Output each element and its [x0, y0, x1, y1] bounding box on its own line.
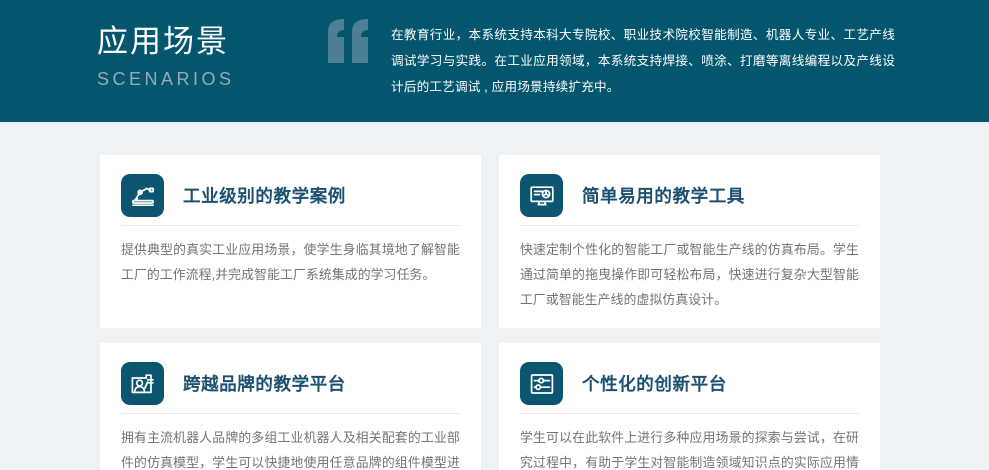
- card-title: 跨越品牌的教学平台: [183, 372, 346, 396]
- card-divider: [520, 413, 859, 414]
- banner-description: 在教育行业，本系统支持本科大专院校、职业技术院校智能制造、机器人专业、工艺产线调…: [391, 22, 895, 100]
- scenario-card[interactable]: 跨越品牌的教学平台 拥有主流机器人品牌的多组工业机器人及相关配套的工业部件的仿真…: [100, 343, 481, 470]
- card-header: 简单易用的教学工具: [520, 173, 859, 218]
- card-description: 学生可以在此软件上进行多种应用场景的探索与尝试，在研究过程中，有助于学生对智能制…: [520, 425, 859, 470]
- scenario-card[interactable]: 简单易用的教学工具 快速定制个性化的智能工厂或智能生产线的仿真布局。学生通过简单…: [499, 155, 880, 328]
- card-title: 工业级别的教学案例: [183, 184, 346, 208]
- card-title: 简单易用的教学工具: [582, 184, 745, 208]
- card-header: 跨越品牌的教学平台: [121, 361, 460, 406]
- robot-arm-icon: [121, 174, 164, 217]
- card-divider: [121, 225, 460, 226]
- scenario-card[interactable]: 个性化的创新平台 学生可以在此软件上进行多种应用场景的探索与尝试，在研究过程中，…: [499, 343, 880, 470]
- card-header: 个性化的创新平台: [520, 361, 859, 406]
- sliders-icon: [520, 362, 563, 405]
- card-description: 拥有主流机器人品牌的多组工业机器人及相关配套的工业部件的仿真模型，学生可以快捷地…: [121, 425, 460, 470]
- card-title: 个性化的创新平台: [582, 372, 727, 396]
- card-header: 工业级别的教学案例: [121, 173, 460, 218]
- scenario-card-grid: 工业级别的教学案例 提供典型的真实工业应用场景，使学生身临其境地了解智能工厂的工…: [100, 155, 880, 470]
- page-title: 应用场景: [97, 22, 307, 62]
- page-subtitle: SCENARIOS: [97, 66, 307, 92]
- card-description: 提供典型的真实工业应用场景，使学生身临其境地了解智能工厂的工作流程,并完成智能工…: [121, 237, 460, 287]
- scenario-card[interactable]: 工业级别的教学案例 提供典型的真实工业应用场景，使学生身临其境地了解智能工厂的工…: [100, 155, 481, 328]
- banner-title-block: 应用场景 SCENARIOS: [97, 22, 307, 92]
- monitor-cube-icon: [520, 174, 563, 217]
- quote-open-icon: [326, 18, 376, 64]
- scenarios-page: 应用场景 SCENARIOS 在教育行业，本系统支持本科大专院校、职业技术院校智…: [0, 0, 989, 470]
- banner: 应用场景 SCENARIOS 在教育行业，本系统支持本科大专院校、职业技术院校智…: [0, 0, 989, 122]
- card-description: 快速定制个性化的智能工厂或智能生产线的仿真布局。学生通过简单的拖曳操作即可轻松布…: [520, 237, 859, 312]
- id-card-person-icon: [121, 362, 164, 405]
- card-divider: [520, 225, 859, 226]
- card-divider: [121, 413, 460, 414]
